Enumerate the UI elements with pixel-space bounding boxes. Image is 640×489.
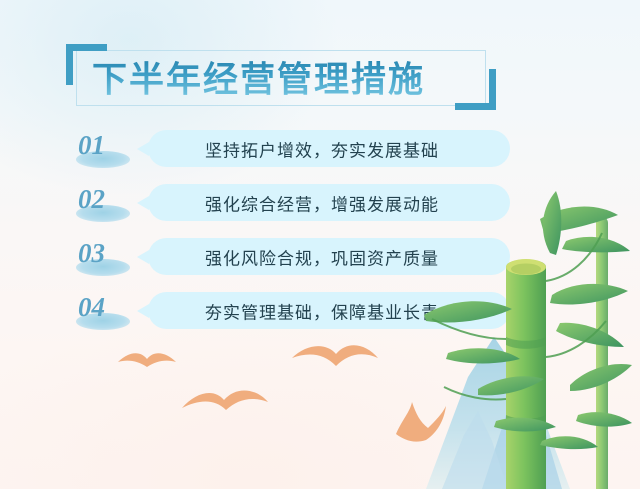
measure-number: 01 xyxy=(78,130,105,161)
measure-number: 03 xyxy=(78,238,105,269)
measure-text: 坚持拓户增效，夯实发展基础 xyxy=(148,136,496,161)
measure-number-badge: 02 xyxy=(72,184,134,226)
measure-number-badge: 01 xyxy=(72,130,134,172)
list-item[interactable]: 03 强化风险合规，巩固资产质量 xyxy=(0,234,640,288)
measure-list: 01 坚持拓户增效，夯实发展基础 02 强化综合经营，增强发展动能 03 xyxy=(0,126,640,342)
measure-number-badge: 03 xyxy=(72,238,134,280)
measure-pill[interactable]: 强化综合经营，增强发展动能 xyxy=(148,184,510,221)
measure-pill[interactable]: 强化风险合规，巩固资产质量 xyxy=(148,238,510,275)
measure-number: 02 xyxy=(78,184,105,215)
flying-birds-icon xyxy=(0,340,460,450)
poster-canvas: 下半年经营管理措施 01 坚持拓户增效，夯实发展基础 02 强化综合经营，增强发… xyxy=(0,0,640,489)
measure-pill[interactable]: 坚持拓户增效，夯实发展基础 xyxy=(148,130,510,167)
list-item[interactable]: 02 强化综合经营，增强发展动能 xyxy=(0,180,640,234)
measure-text: 夯实管理基础，保障基业长青 xyxy=(148,298,496,323)
mountain-illustration xyxy=(426,337,570,489)
list-item[interactable]: 04 夯实管理基础，保障基业长青 xyxy=(0,288,640,342)
title-block: 下半年经营管理措施 xyxy=(66,44,496,110)
measure-text: 强化综合经营，增强发展动能 xyxy=(148,190,496,215)
measure-number: 04 xyxy=(78,292,105,323)
measure-text: 强化风险合规，巩固资产质量 xyxy=(148,244,496,269)
list-item[interactable]: 01 坚持拓户增效，夯实发展基础 xyxy=(0,126,640,180)
page-title: 下半年经营管理措施 xyxy=(92,52,425,103)
measure-number-badge: 04 xyxy=(72,292,134,334)
title-corner-bottom-right xyxy=(455,69,496,110)
measure-pill[interactable]: 夯实管理基础，保障基业长青 xyxy=(148,292,510,329)
